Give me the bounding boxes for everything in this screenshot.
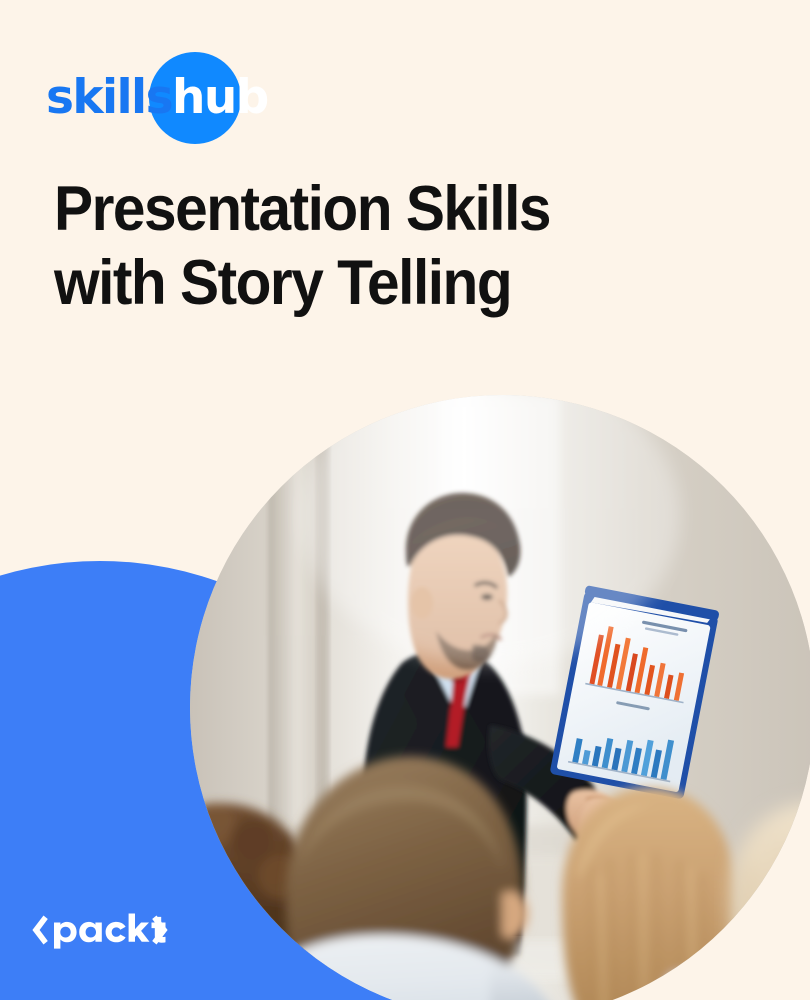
brand-word-hub: hub xyxy=(172,70,268,125)
page-title: Presentation Skills with Story Telling xyxy=(54,172,668,320)
packt-logo[interactable] xyxy=(30,905,170,955)
skillshub-logo[interactable]: skillshub xyxy=(46,52,306,144)
brand-word-skills: skills xyxy=(46,70,172,125)
title-line-two: with Story Telling xyxy=(54,248,511,318)
course-cover: skillshub Presentation Skills with Story… xyxy=(0,0,810,1000)
cover-photo xyxy=(190,395,810,1000)
skillshub-wordmark: skillshub xyxy=(46,72,268,124)
title-line-one: Presentation Skills xyxy=(54,174,550,244)
